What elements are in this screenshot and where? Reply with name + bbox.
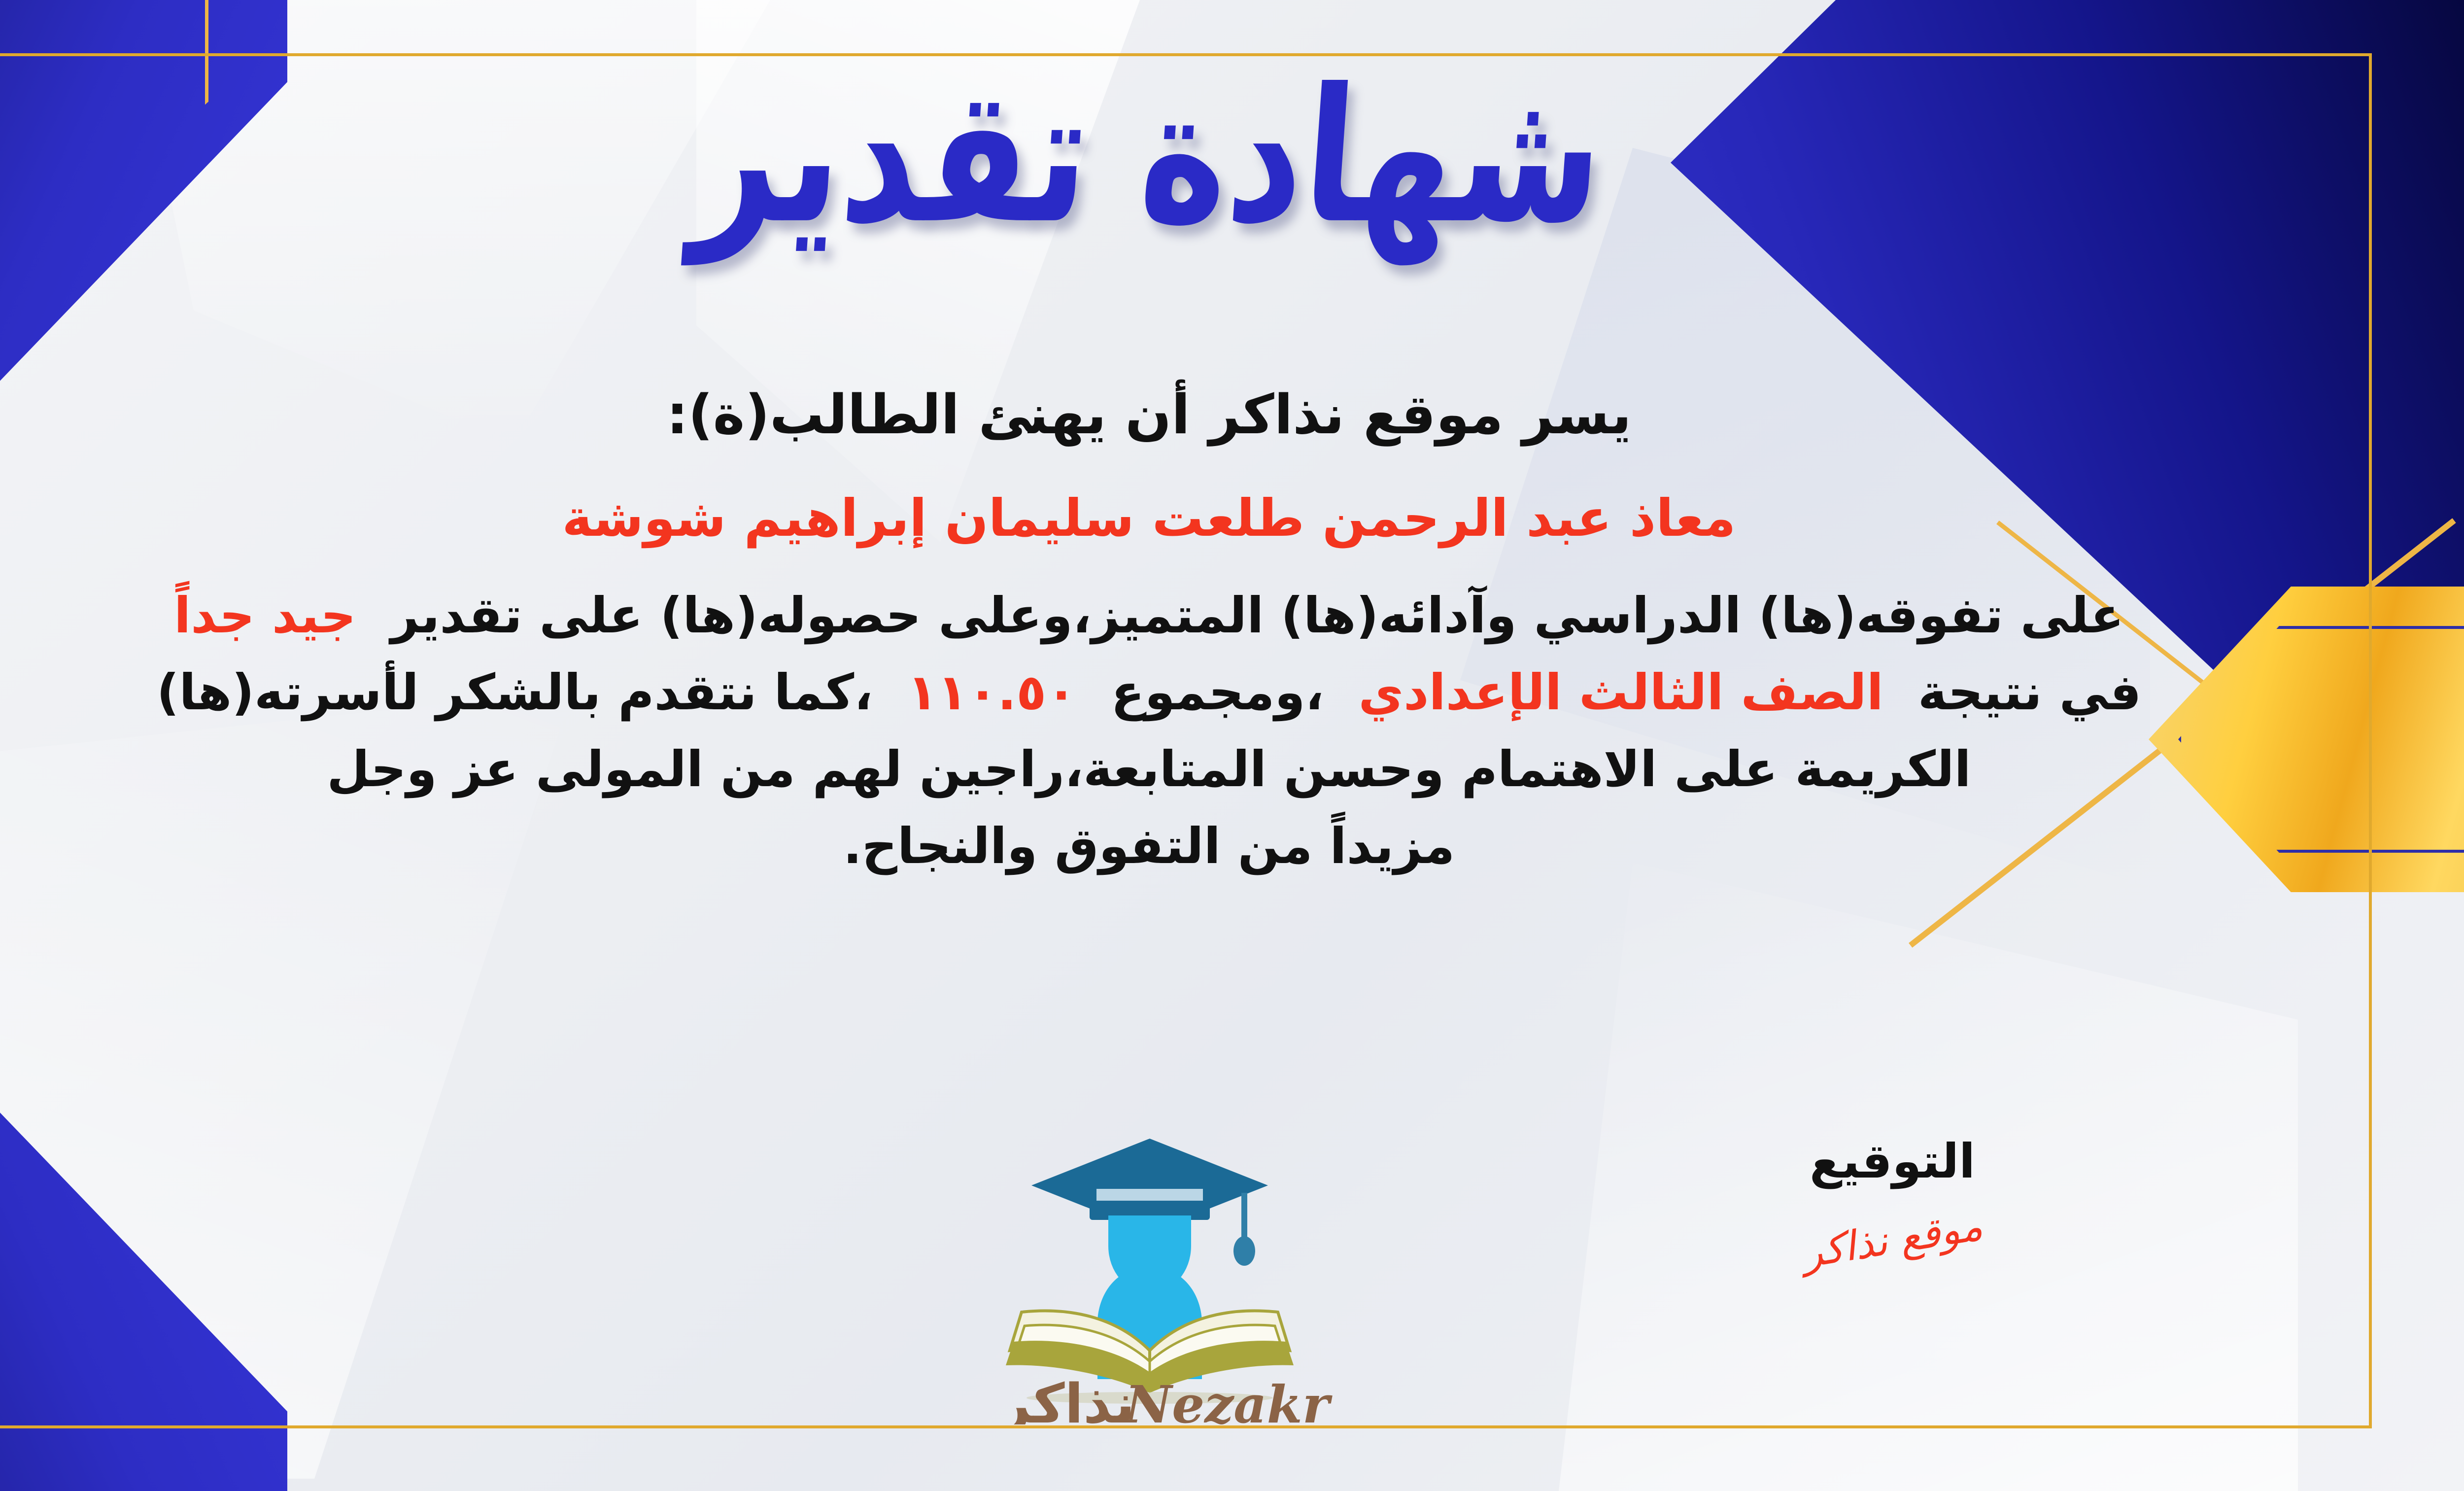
thanks-text: ،كما نتقدم بالشكر لأسرته(ها) (157, 663, 873, 721)
total-score-value: ١١٠.٥٠ (907, 663, 1076, 721)
family-thanks-line: الكريمة على الاهتمام وحسن المتابعة،راجين… (0, 733, 2341, 806)
logo-name-latin: Nezakr (1124, 1374, 1333, 1424)
achievement-line: على تفوقه(ها) الدراسي وآدائه(ها) المتميز… (0, 579, 2341, 652)
greeting-line: يسر موقع نذاكر أن يهنئ الطالب(ة): (0, 375, 2341, 455)
closing-line: مزيداً من التفوق والنجاح. (0, 810, 2341, 883)
signature-block: التوقيع موقع نذاكر (1754, 1134, 2030, 1263)
result-line: في نتيجةالصف الثالث الإعدادي،ومجموع١١٠.٥… (0, 656, 2341, 729)
logo-name-arabic: نذاكر (997, 1372, 1135, 1424)
certificate-canvas: شهادة تقدير يسر موقع نذاكر أن يهنئ الطال… (0, 0, 2464, 1491)
stage-value: الصف الثالث الإعدادي (1359, 663, 1883, 721)
certificate-body: يسر موقع نذاكر أن يهنئ الطالب(ة): معاذ ع… (0, 375, 2341, 883)
signature-label: التوقيع (1754, 1134, 2030, 1189)
certificate-title-wrap: شهادة تقدير (0, 79, 2464, 234)
result-prefix: في نتيجة (1918, 663, 2141, 721)
achievement-text: على تفوقه(ها) الدراسي وآدائه(ها) المتميز… (391, 587, 2124, 644)
student-name: معاذ عبد الرحمن طلعت سليمان إبراهيم شوشة (0, 481, 2341, 556)
page-title: شهادة تقدير (688, 60, 1610, 254)
total-prefix: ،ومجموع (1111, 663, 1324, 721)
grade-value: جيد جداً (174, 587, 356, 644)
brand-logo: Nezakr نذاكر (962, 1119, 1337, 1424)
